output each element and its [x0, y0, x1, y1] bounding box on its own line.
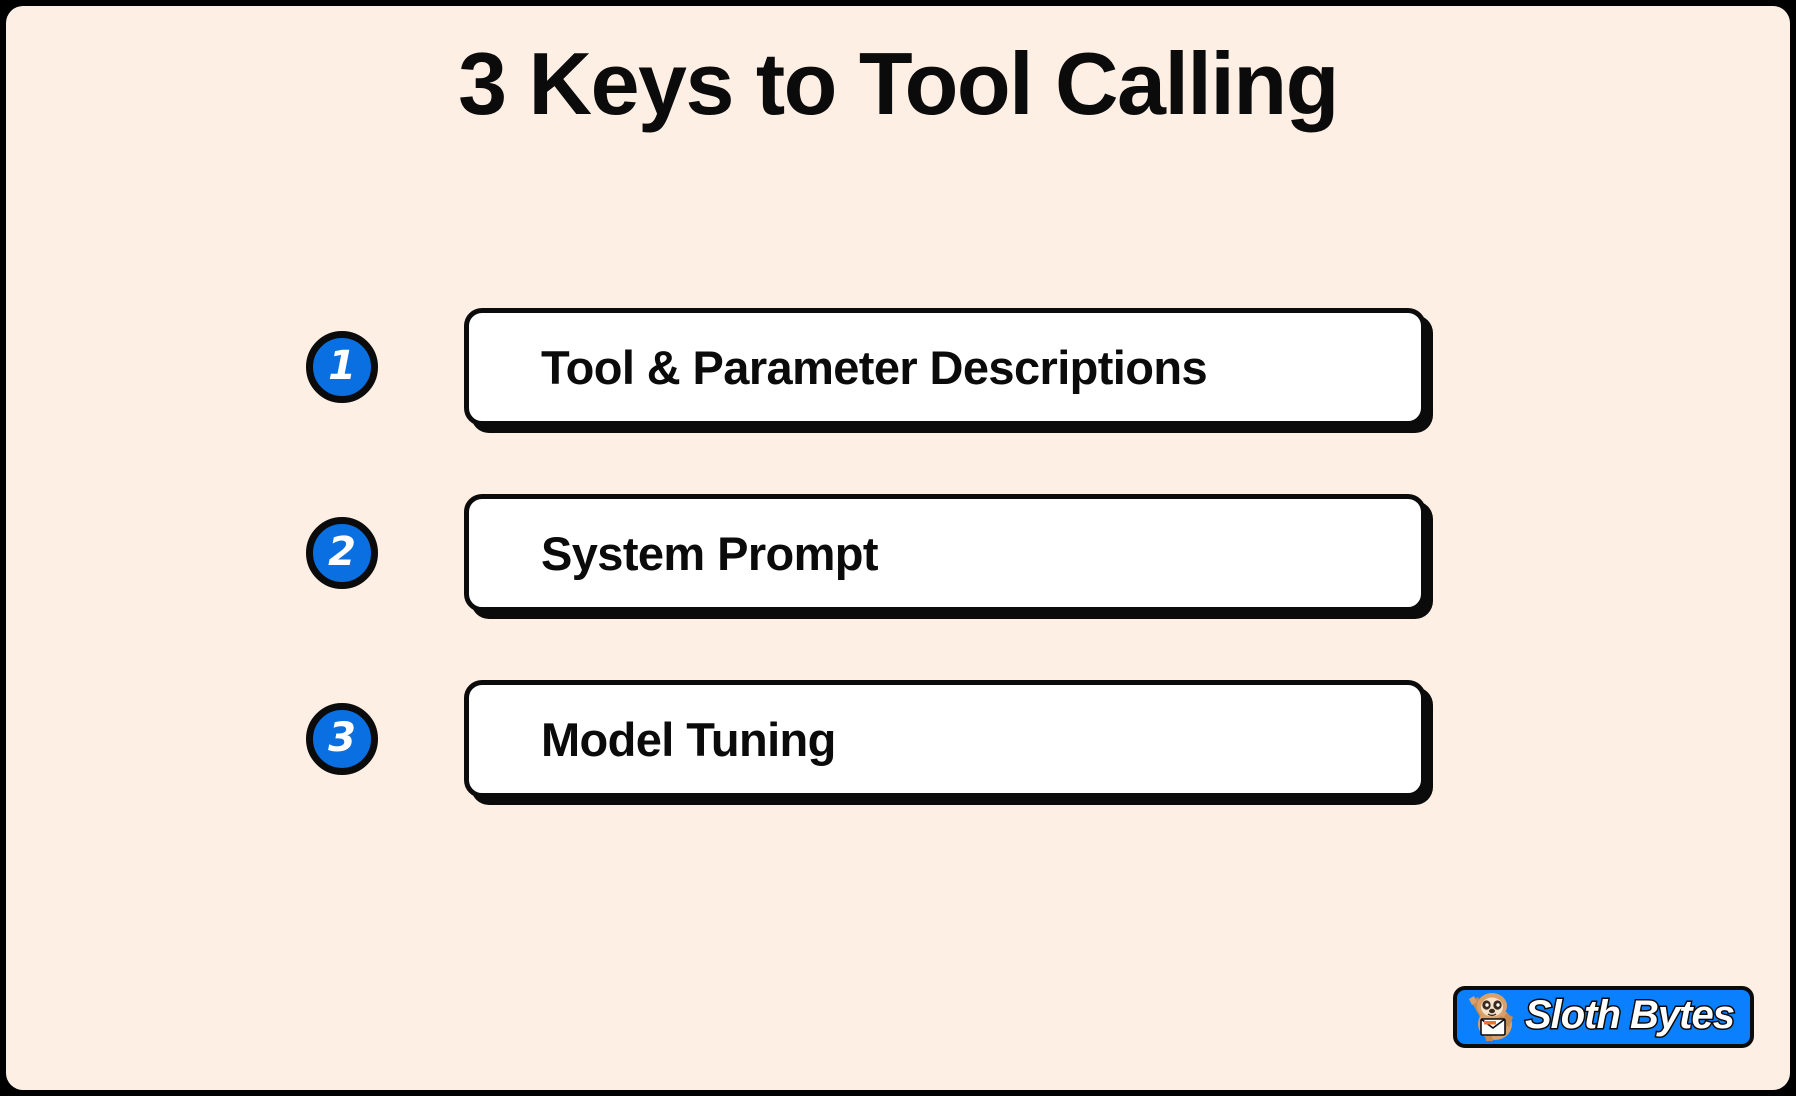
key-card-label: Model Tuning: [469, 712, 836, 767]
key-card-1[interactable]: Tool & Parameter Descriptions: [464, 308, 1426, 426]
step-number-badge-3: 3: [306, 703, 378, 775]
step-number-label: 1: [328, 346, 356, 386]
keys-list: 1 Tool & Parameter Descriptions 2 System…: [306, 306, 1426, 800]
page-title: 3 Keys to Tool Calling: [6, 38, 1790, 130]
step-number-label: 2: [328, 532, 356, 572]
outer-frame: 3 Keys to Tool Calling 1 Tool & Paramete…: [0, 0, 1796, 1096]
slide-canvas: 3 Keys to Tool Calling 1 Tool & Paramete…: [6, 6, 1790, 1090]
step-number-badge-1: 1: [306, 331, 378, 403]
sloth-with-envelope-icon: [1465, 991, 1521, 1043]
key-card-2[interactable]: System Prompt: [464, 494, 1426, 612]
key-card-label: Tool & Parameter Descriptions: [469, 340, 1207, 395]
step-number-badge-2: 2: [306, 517, 378, 589]
list-item: 2 System Prompt: [306, 492, 1426, 614]
step-number-label: 3: [328, 718, 356, 758]
list-item: 1 Tool & Parameter Descriptions: [306, 306, 1426, 428]
key-card-label: System Prompt: [469, 526, 878, 581]
key-card-3[interactable]: Model Tuning: [464, 680, 1426, 798]
brand-name-label: Sloth Bytes: [1525, 995, 1734, 1035]
list-item: 3 Model Tuning: [306, 678, 1426, 800]
brand-logo-badge[interactable]: Sloth Bytes: [1453, 986, 1754, 1048]
